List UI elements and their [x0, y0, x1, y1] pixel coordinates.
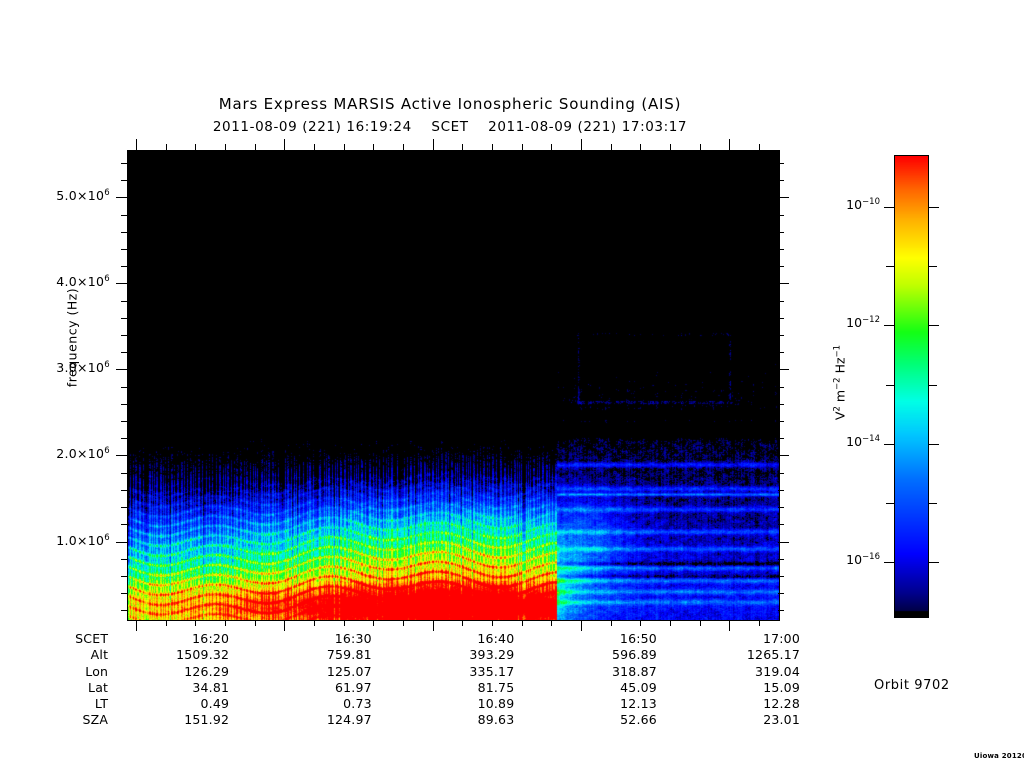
ephemeris-cell: 318.87: [545, 664, 688, 680]
colorbar-tick-label: 10−12: [784, 315, 880, 330]
y-minor-tick: [121, 335, 127, 336]
y-tick-exponent: 6: [104, 188, 110, 198]
x-minor-tick-top: [314, 144, 315, 150]
x-minor-tick: [759, 620, 760, 626]
x-minor-tick-top: [462, 144, 463, 150]
x-minor-tick-top: [255, 144, 256, 150]
x-minor-tick: [255, 620, 256, 626]
x-minor-tick: [522, 620, 523, 626]
x-minor-tick-top: [700, 144, 701, 150]
x-major-tick-top: [136, 139, 137, 150]
y-major-tick: [116, 455, 127, 456]
x-minor-tick: [225, 620, 226, 626]
y-tick-label: 1.0×106: [7, 533, 110, 548]
colorbar-tick-mantissa: 10: [846, 315, 862, 330]
ephemeris-cell: 12.28: [688, 696, 800, 712]
y-major-tick: [116, 369, 127, 370]
cb-minor-tick-left: [886, 503, 894, 504]
y-minor-tick: [121, 438, 127, 439]
ephemeris-row: Alt1509.32759.81393.29596.891265.17: [0, 647, 800, 663]
y-minor-tick-right: [778, 301, 784, 302]
y-tick-mantissa: 5.0×10: [56, 188, 104, 203]
y-minor-tick-right: [778, 180, 784, 181]
cb-major-tick-left: [884, 325, 894, 326]
x-minor-tick: [344, 620, 345, 626]
ephemeris-cell: 16:20: [117, 631, 260, 647]
y-minor-tick-right: [778, 387, 784, 388]
cb-major-tick-right: [929, 207, 939, 208]
orbit-label: Orbit 9702: [874, 678, 950, 693]
y-major-tick-right: [778, 455, 789, 456]
x-minor-tick: [195, 620, 196, 626]
y-minor-tick: [121, 180, 127, 181]
cb-major-tick-right: [929, 444, 939, 445]
colorbar-tick-exponent: −14: [862, 434, 880, 444]
x-minor-tick-top: [611, 144, 612, 150]
spectrogram-image: [128, 151, 779, 620]
cb-minor-tick-right: [929, 385, 937, 386]
colorbar-tick-exponent: −16: [862, 552, 880, 562]
y-major-tick-right: [778, 542, 789, 543]
x-minor-tick: [700, 620, 701, 626]
y-minor-tick: [121, 593, 127, 594]
cb-minor-tick-right: [929, 266, 937, 267]
y-minor-tick-right: [778, 473, 784, 474]
y-minor-tick: [121, 421, 127, 422]
y-minor-tick-right: [778, 507, 784, 508]
y-minor-tick: [121, 266, 127, 267]
ephemeris-cell: 34.81: [117, 680, 260, 696]
x-major-tick: [136, 620, 137, 631]
y-major-tick: [116, 197, 127, 198]
y-minor-tick: [121, 576, 127, 577]
subtitle-gap-2: [469, 119, 489, 135]
x-minor-tick: [670, 620, 671, 626]
cb-unit-v-exp: 2: [832, 406, 842, 411]
x-minor-tick: [551, 620, 552, 626]
y-minor-tick: [121, 507, 127, 508]
subtitle-gap-1: [412, 119, 432, 135]
ephemeris-cell: 16:50: [545, 631, 688, 647]
x-minor-tick: [462, 620, 463, 626]
ephemeris-row-label: SZA: [0, 712, 117, 728]
x-major-tick: [581, 620, 582, 631]
x-minor-tick: [403, 620, 404, 626]
y-minor-tick: [121, 404, 127, 405]
colorbar-tick-mantissa: 10: [846, 434, 862, 449]
y-major-tick-right: [778, 283, 789, 284]
y-minor-tick: [121, 610, 127, 611]
colorbar-wrap: [894, 155, 929, 618]
cb-major-tick-left: [884, 444, 894, 445]
y-major-tick: [116, 283, 127, 284]
cb-minor-tick-left: [886, 385, 894, 386]
x-major-tick-top: [284, 139, 285, 150]
y-minor-tick: [121, 249, 127, 250]
x-minor-tick-top: [403, 144, 404, 150]
colorbar-tick-exponent: −10: [862, 197, 880, 207]
spectrogram-plot-area: [127, 150, 780, 621]
y-tick-exponent: 6: [104, 360, 110, 370]
x-minor-tick-top: [373, 144, 374, 150]
y-minor-tick-right: [778, 335, 784, 336]
y-minor-tick-right: [778, 232, 784, 233]
y-minor-tick-right: [778, 404, 784, 405]
y-minor-tick: [121, 163, 127, 164]
x-minor-tick-top: [640, 144, 641, 150]
marsis-spectrogram-figure: Mars Express MARSIS Active Ionospheric S…: [0, 0, 1024, 768]
y-minor-tick: [121, 301, 127, 302]
ephemeris-cell: 0.73: [260, 696, 403, 712]
y-minor-tick: [121, 524, 127, 525]
x-minor-tick-top: [166, 144, 167, 150]
x-minor-tick: [640, 620, 641, 626]
y-minor-tick: [121, 490, 127, 491]
ephemeris-cell: 23.01: [688, 712, 800, 728]
ephemeris-cell: 596.89: [545, 647, 688, 663]
ephemeris-cell: 335.17: [403, 664, 546, 680]
cb-minor-tick-left: [886, 266, 894, 267]
cb-major-tick-left: [884, 562, 894, 563]
x-minor-tick: [314, 620, 315, 626]
x-major-tick: [433, 620, 434, 631]
x-minor-tick-top: [492, 144, 493, 150]
y-minor-tick: [121, 352, 127, 353]
cb-major-tick-right: [929, 562, 939, 563]
ephemeris-cell: 0.49: [117, 696, 260, 712]
colorbar-tick-mantissa: 10: [846, 552, 862, 567]
ephemeris-cell: 126.29: [117, 664, 260, 680]
colorbar-gradient: [895, 156, 928, 617]
x-major-tick: [284, 620, 285, 631]
colorbar-tick-exponent: −12: [862, 315, 880, 325]
x-minor-tick: [611, 620, 612, 626]
ephemeris-cell: 16:30: [260, 631, 403, 647]
ephemeris-cell: 125.07: [260, 664, 403, 680]
ephemeris-table: SCET16:2016:3016:4016:5017:00Alt1509.327…: [0, 631, 800, 729]
ephemeris-cell: 45.09: [545, 680, 688, 696]
y-minor-tick-right: [778, 593, 784, 594]
x-minor-tick: [492, 620, 493, 626]
y-minor-tick: [121, 318, 127, 319]
x-minor-tick-top: [225, 144, 226, 150]
cb-minor-tick-right: [929, 503, 937, 504]
y-major-tick: [116, 542, 127, 543]
y-minor-tick: [121, 387, 127, 388]
ephemeris-row: SZA151.92124.9789.6352.6623.01: [0, 712, 800, 728]
x-minor-tick: [166, 620, 167, 626]
y-tick-label: 2.0×106: [7, 446, 110, 461]
y-tick-exponent: 6: [104, 274, 110, 284]
ephemeris-cell: 124.97: [260, 712, 403, 728]
cb-unit-v: V: [833, 412, 848, 421]
y-minor-tick-right: [778, 610, 784, 611]
y-minor-tick-right: [778, 576, 784, 577]
y-minor-tick-right: [778, 352, 784, 353]
cb-unit-hz-exp: −1: [832, 345, 842, 358]
y-minor-tick-right: [778, 421, 784, 422]
time-system-label: SCET: [431, 119, 468, 135]
y-tick-exponent: 6: [104, 446, 110, 456]
time-range-subtitle: 2011-08-09 (221) 16:19:24 SCET 2011-08-0…: [0, 119, 900, 135]
x-minor-tick: [373, 620, 374, 626]
y-major-tick-right: [778, 369, 789, 370]
y-tick-label: 4.0×106: [7, 274, 110, 289]
colorbar-tick-mantissa: 10: [846, 197, 862, 212]
y-minor-tick: [121, 232, 127, 233]
ephemeris-cell: 1265.17: [688, 647, 800, 663]
y-minor-tick: [121, 473, 127, 474]
cb-unit-m-exp: −2: [832, 377, 842, 390]
end-datetime: 2011-08-09 (221) 17:03:17: [488, 119, 687, 135]
y-tick-mantissa: 4.0×10: [56, 274, 104, 289]
ephemeris-cell: 81.75: [403, 680, 546, 696]
y-minor-tick: [121, 215, 127, 216]
ephemeris-grid: SCET16:2016:3016:4016:5017:00Alt1509.327…: [0, 631, 800, 729]
y-tick-label: 3.0×106: [7, 360, 110, 375]
x-major-tick-top: [581, 139, 582, 150]
ephemeris-cell: 10.89: [403, 696, 546, 712]
cb-major-tick-left: [884, 207, 894, 208]
ephemeris-row: SCET16:2016:3016:4016:5017:00: [0, 631, 800, 647]
y-tick-label: 5.0×106: [7, 188, 110, 203]
page-title: Mars Express MARSIS Active Ionospheric S…: [0, 95, 900, 113]
y-minor-tick-right: [778, 249, 784, 250]
colorbar-tick-label: 10−16: [784, 552, 880, 567]
watermark-credit: Uiowa 20120406: [974, 752, 1024, 760]
y-tick-mantissa: 3.0×10: [56, 360, 104, 375]
ephemeris-cell: 17:00: [688, 631, 800, 647]
ephemeris-cell: 759.81: [260, 647, 403, 663]
x-minor-tick-top: [344, 144, 345, 150]
ephemeris-row: Lat34.8161.9781.7545.0915.09: [0, 680, 800, 696]
ephemeris-row-label: Lon: [0, 664, 117, 680]
y-tick-exponent: 6: [104, 533, 110, 543]
ephemeris-cell: 52.66: [545, 712, 688, 728]
x-minor-tick-top: [670, 144, 671, 150]
x-minor-tick-top: [522, 144, 523, 150]
ephemeris-cell: 16:40: [403, 631, 546, 647]
ephemeris-row-label: Alt: [0, 647, 117, 663]
y-tick-mantissa: 1.0×10: [56, 533, 104, 548]
x-major-tick-top: [729, 139, 730, 150]
ephemeris-cell: 151.92: [117, 712, 260, 728]
ephemeris-row-label: SCET: [0, 631, 117, 647]
ephemeris-row: LT0.490.7310.8912.1312.28: [0, 696, 800, 712]
y-minor-tick-right: [778, 215, 784, 216]
ephemeris-cell: 61.97: [260, 680, 403, 696]
ephemeris-cell: 15.09: [688, 680, 800, 696]
start-datetime: 2011-08-09 (221) 16:19:24: [213, 119, 412, 135]
ephemeris-row-label: LT: [0, 696, 117, 712]
ephemeris-row: Lon126.29125.07335.17318.87319.04: [0, 664, 800, 680]
x-minor-tick-top: [195, 144, 196, 150]
x-minor-tick-top: [551, 144, 552, 150]
ephemeris-row-label: Lat: [0, 680, 117, 696]
y-minor-tick-right: [778, 524, 784, 525]
x-major-tick-top: [433, 139, 434, 150]
colorbar-tick-label: 10−14: [784, 434, 880, 449]
cb-unit-m: m: [833, 390, 848, 406]
x-major-tick: [729, 620, 730, 631]
y-tick-mantissa: 2.0×10: [56, 446, 104, 461]
y-minor-tick: [121, 559, 127, 560]
cb-major-tick-right: [929, 325, 939, 326]
ephemeris-cell: 12.13: [545, 696, 688, 712]
x-minor-tick-top: [759, 144, 760, 150]
y-minor-tick-right: [778, 490, 784, 491]
colorbar-tick-label: 10−10: [784, 197, 880, 212]
ephemeris-cell: 1509.32: [117, 647, 260, 663]
ephemeris-cell: 393.29: [403, 647, 546, 663]
colorbar: [894, 155, 929, 618]
ephemeris-cell: 319.04: [688, 664, 800, 680]
cb-unit-hz: Hz: [833, 357, 848, 377]
ephemeris-cell: 89.63: [403, 712, 546, 728]
y-minor-tick-right: [778, 163, 784, 164]
y-minor-tick-right: [778, 266, 784, 267]
